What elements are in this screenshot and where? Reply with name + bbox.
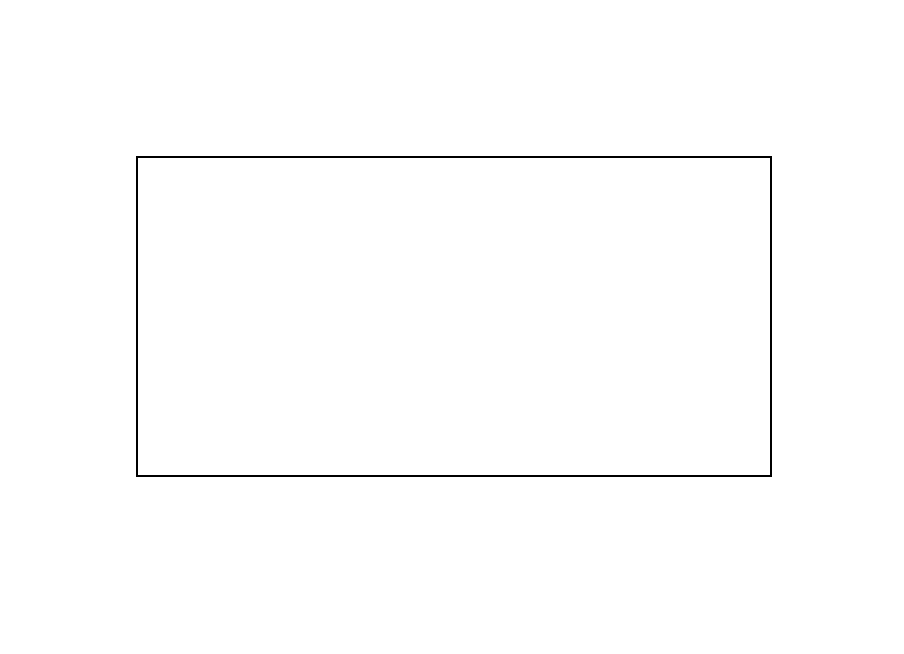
contour-field	[138, 158, 772, 477]
contour-plot-figure	[0, 0, 904, 654]
plot-area	[136, 156, 772, 477]
